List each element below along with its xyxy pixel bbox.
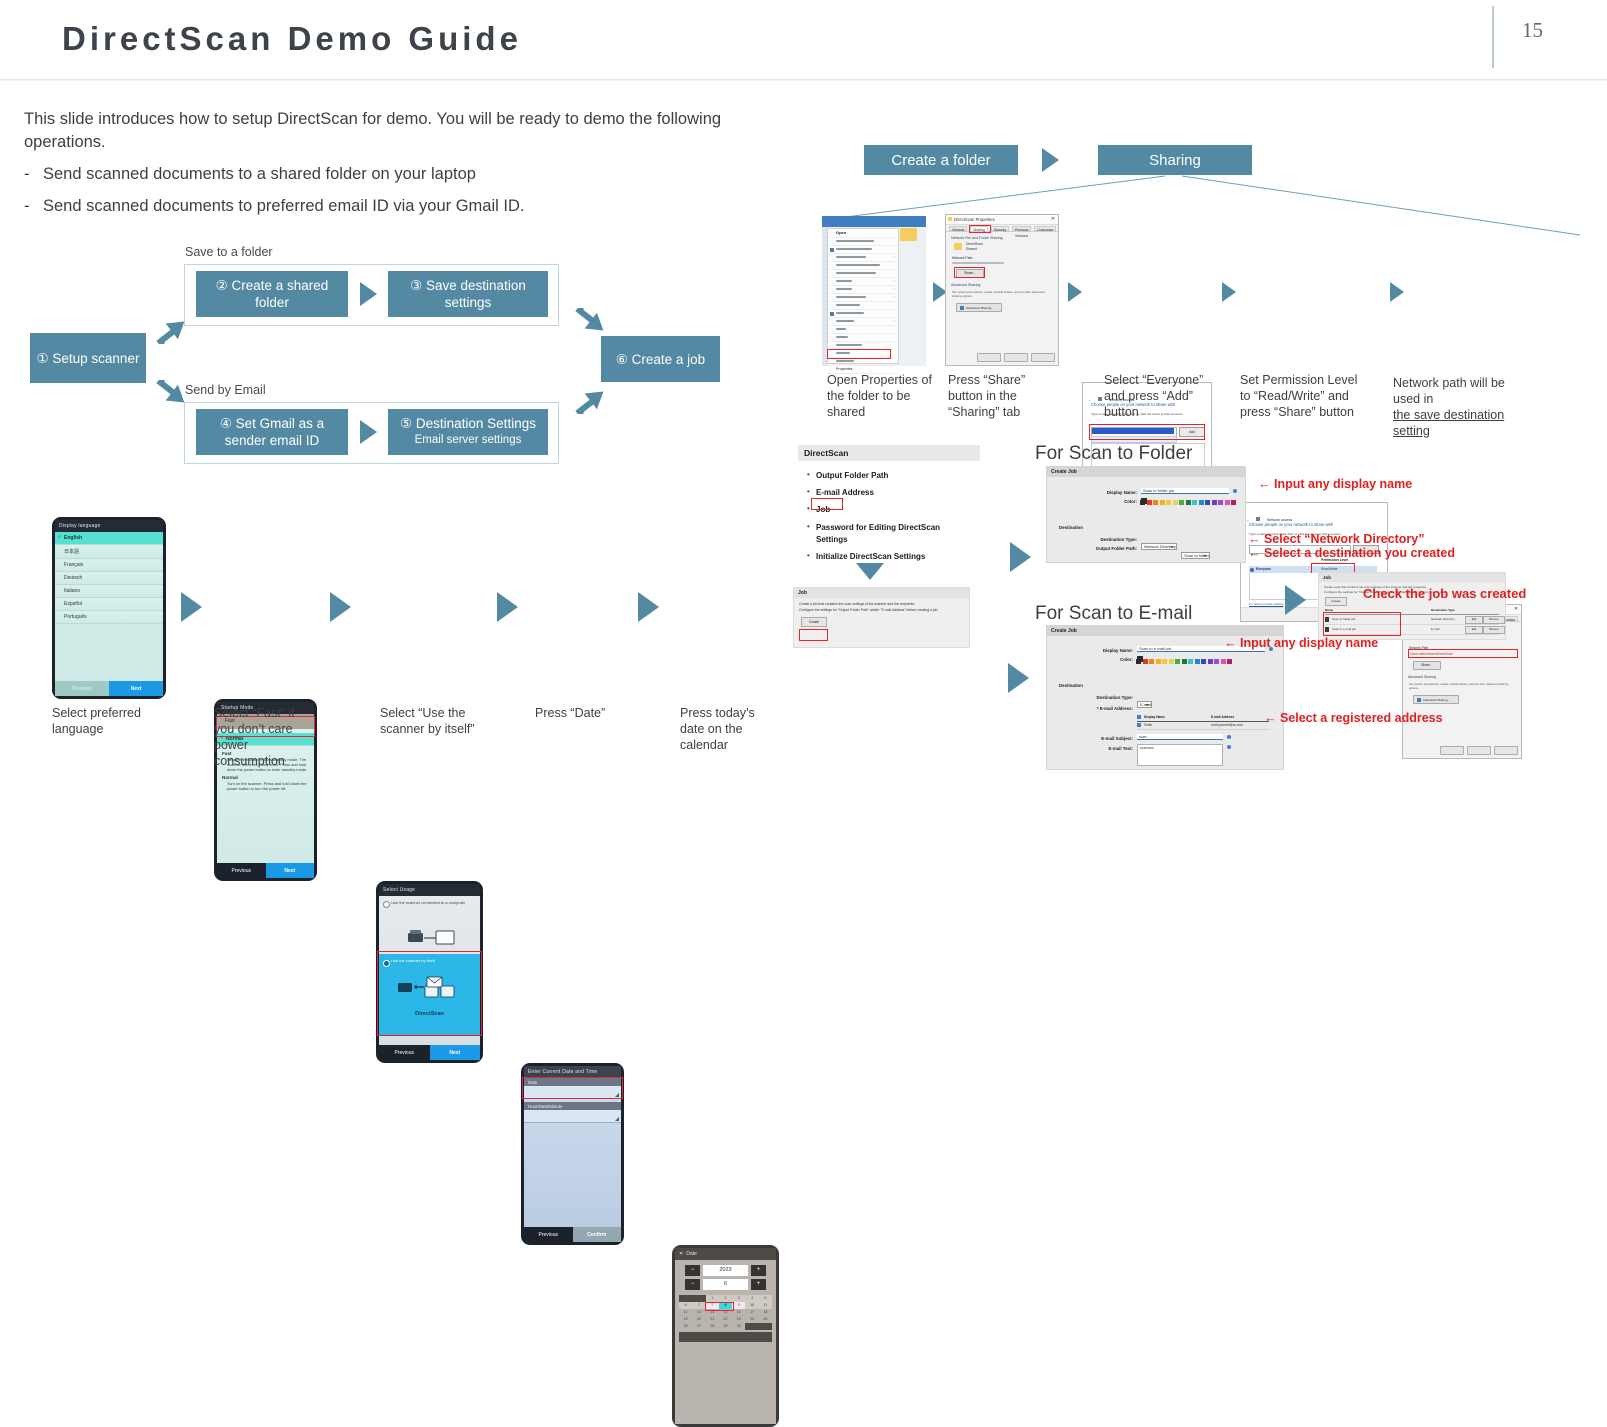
calendar-bottom-bar [679,1332,772,1342]
directscan-down-arrow [856,563,884,580]
help-icon[interactable] [1227,735,1231,739]
context-menu-item[interactable]: Open [828,229,898,238]
phone-5-year-row: − 2023 + [675,1260,776,1276]
context-menu-item[interactable] [828,326,898,334]
phone-2-caption: Select “Fast” if you don’t care power co… [214,705,310,769]
advanced-sharing-label: Advanced Sharing... [1423,698,1450,702]
year-decrement-button[interactable]: − [685,1265,700,1276]
page-title: DirectScan Demo Guide [62,20,522,58]
job-result-create-label: Create [1326,598,1346,605]
scan-to-email-title: For Scan to E-mail [1035,603,1192,625]
context-menu-item[interactable]: › [828,254,898,262]
calendar-cell[interactable]: 22 [719,1316,732,1323]
calendar-cell[interactable]: 10 [745,1302,758,1309]
highlight-job-item [811,498,843,510]
phone-4-footer: Previous Confirm [524,1227,621,1242]
input-email-text[interactable]: scanned [1137,744,1223,766]
dialog-heading: Choose people on your network to share w… [1249,522,1333,527]
row-edit-button[interactable]: Edit [1465,626,1483,634]
palette-swatch[interactable] [1205,500,1210,505]
calendar-cell[interactable]: 30 [732,1323,745,1330]
phone-4-field-time-label: Hour/Date/Minute [524,1102,621,1110]
calendar-cell [692,1295,705,1302]
phone-5-calendar-grid: 1 2 3 4 5 6 7 7 8 9 10 11 12 13 14 15 [679,1295,772,1342]
job-card-line1: Create a job that contains the scan sett… [794,598,969,606]
calendar-cell [745,1323,758,1330]
phone-3-previous-button[interactable]: Previous [379,1045,430,1060]
label-color: Color: [1105,499,1137,504]
intro-bullet-1: - Send scanned documents to a shared fol… [24,163,744,186]
palette-swatch[interactable] [1218,500,1223,505]
row-display-name: Smith [1144,723,1152,727]
row-job-type: Network Directory [1431,617,1455,621]
calendar-cell[interactable]: 12 [679,1309,692,1316]
highlight-properties [827,349,891,359]
palette-swatch[interactable] [1169,659,1174,664]
arrow-to-scan-to-email [1008,663,1029,693]
flow-step-5-main: ⑤ Destination Settings [400,415,536,432]
row-remove-button[interactable]: Remove [1483,616,1505,624]
arrow-to-scan-to-folder [1010,542,1031,572]
phone-3-footer: Previous Next [379,1045,480,1060]
label-display-name: Display Name: [1085,490,1137,495]
calendar-cell[interactable]: 18 [759,1309,772,1316]
palette-swatch[interactable] [1153,500,1158,505]
sharing-step-5-caption: Network path will be used in the save de… [1393,375,1533,439]
folder-icon [948,217,952,221]
palette-swatch[interactable] [1182,659,1187,664]
email-table-row[interactable]: Smith smith.jdsmith@xx.com [1137,722,1269,730]
highlight-sharing-tab [969,225,991,233]
palette-swatch[interactable] [1214,659,1219,664]
trouble-sharing-link[interactable]: I'm having trouble sharing [1249,602,1283,606]
phone-5-year-value: 2023 [703,1265,748,1276]
window-footer-buttons[interactable] [1440,746,1518,755]
calendar-cell[interactable]: 3 [732,1295,745,1302]
label-display-name: Display Name: [1081,648,1133,653]
phone-arrow-3-4 [497,592,518,622]
tab-previous-versions[interactable]: Previous Versions [1012,226,1031,231]
phone-3-option-a-label: Use the scanner connected to a computer [391,900,476,905]
page-number: 15 [1522,18,1543,43]
sharing-step-4-caption: Set Permission Level to “Read/Write” and… [1240,372,1358,420]
ok-button[interactable] [977,353,1001,362]
phone-arrow-1-2 [181,592,202,622]
palette-swatch[interactable] [1195,659,1200,664]
close-icon[interactable]: ✕ [1514,606,1518,612]
phone-1-previous-button[interactable]: Previous [55,681,109,696]
palette-swatch[interactable] [1179,500,1184,505]
sharing-flow-section: Create a folder Sharing Open › › › › › [790,140,1607,410]
explorer-header-band [822,216,926,227]
share-icon [1256,517,1260,521]
label-email-text: E-mail Text: [1077,746,1133,751]
context-menu-item[interactable]: › [828,318,898,326]
scan-to-folder-title: For Scan to Folder [1035,443,1192,465]
window-footer-buttons[interactable] [977,353,1055,362]
help-icon[interactable] [1233,489,1237,493]
flow-step-3[interactable]: ③ Save destination settings [388,271,548,317]
share-button[interactable]: Share... [1413,661,1441,670]
context-menu-item[interactable] [828,262,898,270]
shield-icon [830,248,834,252]
calendar-cell[interactable]: 16 [732,1309,745,1316]
context-menu-item[interactable]: › [828,286,898,294]
palette-swatch[interactable] [1173,500,1178,505]
row-email-address: smith.jdsmith@xx.com [1211,723,1243,727]
phone-3-highlight-option-b [377,951,482,1036]
advanced-sharing-button[interactable]: Advanced Sharing... [956,303,1002,312]
phone-arrow-2-3 [330,592,351,622]
phone-5-highlight-today [705,1302,734,1311]
input-email-subject[interactable]: scan [1137,734,1223,740]
sharing-step-1-caption: Open Properties of the folder to be shar… [827,372,943,420]
intro-paragraph: This slide introduces how to setup Direc… [24,108,744,154]
email-table-header: Display Name E-mail Address [1137,715,1269,722]
phone-5-caption: Press today’s date on the calendar [680,705,776,753]
calendar-cell[interactable]: 11 [759,1302,772,1309]
palette-swatch[interactable] [1136,659,1141,664]
row-job-type: E-mail [1431,627,1440,631]
bullet-text: Send scanned documents to preferred emai… [43,195,524,218]
shield-icon [1417,698,1421,702]
calendar-cell[interactable]: 23 [732,1316,745,1323]
context-menu-item[interactable] [828,302,898,310]
phone-2-help-normal-title: Normal [217,772,314,781]
lang-option-english[interactable]: English [55,532,163,545]
context-menu-item[interactable] [828,246,898,254]
setup-flow-diagram: Save to a folder ② Create a shared folde… [0,240,760,460]
arrow-to-job-result [1285,585,1306,615]
job-create-button[interactable]: Create [801,617,827,627]
phone-4-highlight-date [522,1077,623,1099]
tab-general[interactable]: General [949,226,967,231]
calendar-cell[interactable]: 17 [745,1309,758,1316]
lang-option-japanese[interactable]: 日本語 [55,545,163,559]
phone-5-title-bar: ✕Date [675,1248,776,1260]
select-destination-type[interactable]: E-mail [1137,701,1152,708]
phone-2-help-normal-body: Turn on the scanner. Press and hold down… [217,781,314,791]
palette-swatch[interactable] [1175,659,1180,664]
flow-step-5[interactable]: ⑤ Destination Settings Email server sett… [388,409,548,455]
calendar-cell[interactable]: 20 [692,1316,705,1323]
context-menu-item[interactable] [828,310,898,318]
select-output-folder-path[interactable]: Scan to folder [1181,552,1210,559]
flow-arrow-2-to-3 [360,282,377,306]
phone-5-screen: ✕Date − 2023 + − 6 + 1 2 3 4 [675,1248,776,1424]
sharing-step-1: Open › › › › › Properties [822,216,926,366]
intro-block: This slide introduces how to setup Direc… [24,108,744,218]
palette-swatch[interactable] [1162,659,1167,664]
highlight-create-button [799,629,828,641]
directscan-item-initialize[interactable]: Initialize DirectScan Settings [802,551,976,563]
lang-option-german[interactable]: Deutsch [55,572,163,585]
bullet-dash: - [24,195,34,218]
advanced-sharing-text: Set custom permissions, create multiple … [1409,682,1515,690]
email-table: Display Name E-mail Address Smith smith.… [1137,715,1269,730]
palette-swatch[interactable] [1143,659,1148,664]
flow-step-4[interactable]: ④ Set Gmail as a sender email ID [196,409,348,455]
calendar-cell[interactable]: 25 [759,1316,772,1323]
job-result-title: Job [1319,573,1505,582]
context-menu-item[interactable] [828,238,898,246]
palette-swatch[interactable] [1192,500,1197,505]
calendar-cell[interactable]: 28 [706,1323,719,1330]
advanced-sharing-label: Advanced Sharing... [966,306,994,310]
phone-2-previous-button[interactable]: Previous [217,863,266,878]
tab-security[interactable]: Security [991,226,1009,231]
phone-3-select-usage: Select Usage Use the scanner connected t… [376,881,483,1063]
shared-folder-name: DirectScan [966,242,983,246]
annotation-check-job-created: Check the job was created [1363,585,1526,602]
context-menu-item[interactable] [828,358,898,366]
sharing-flow-arrow [1042,148,1059,172]
palette-swatch[interactable] [1201,659,1206,664]
phone-5-month-value: 6 [703,1279,748,1290]
phone-1-title: Display language [55,520,163,532]
job-result-create-button[interactable]: Create [1325,597,1347,606]
calendar-cell[interactable]: 19 [679,1316,692,1323]
section-network-sharing-label: Network File and Folder Sharing [951,236,1003,240]
sharing-step-2-caption: Press “Share” button in the “Sharing” ta… [948,372,1060,420]
network-path-value [952,262,1004,264]
row-remove-button[interactable]: Remove [1483,626,1505,634]
calendar-cell[interactable]: 24 [745,1316,758,1323]
month-increment-button[interactable]: + [751,1279,766,1290]
sharing-arrow-2-3 [1068,282,1082,302]
label-email-subject: E-mail Subject: [1077,736,1133,741]
calendar-cell[interactable]: 4 [745,1295,758,1302]
sharing-step-5-caption-line1: Network path will be used in [1393,375,1533,407]
bent-arrow-down-right [571,380,609,414]
phone-4-field-time-input[interactable] [524,1110,621,1123]
calendar-cell[interactable]: 2 [719,1295,732,1302]
calendar-cell[interactable]: 5 [759,1295,772,1302]
annotation-folder-display-name: ← Input any display name [1258,476,1412,493]
calendar-cell[interactable]: 6 [679,1302,692,1309]
context-menu-item[interactable]: › [828,294,898,302]
col-email-address: E-mail Address [1211,715,1234,719]
label-email-address: * E-mail Address: [1069,706,1133,711]
flow-step-6[interactable]: ⑥ Create a job [601,336,720,382]
highlight-everyone-add [1089,424,1205,440]
lang-option-spanish[interactable]: Español [55,598,163,611]
flow-arrow-4-to-5 [360,420,377,444]
flow-group-label-folder: Save to a folder [185,245,273,259]
phone-walkthrough-strip: Display language English 日本語 Français De… [0,500,800,790]
shared-folder-state: Shared [966,247,977,251]
phone-3-next-button[interactable]: Next [430,1045,481,1060]
job-result-col-type: Destination Type [1431,608,1455,612]
phone-5-month-row: − 6 + [675,1276,776,1290]
phone-3-option-a[interactable]: Use the scanner connected to a computer [379,896,480,909]
calendar-cell [679,1295,692,1302]
palette-swatch[interactable] [1188,659,1193,664]
lang-option-portuguese[interactable]: Português [55,611,163,624]
sharing-node-create-folder[interactable]: Create a folder [864,145,1018,175]
palette-swatch[interactable] [1231,500,1236,505]
highlight-job-rows [1323,612,1401,636]
cancel-button[interactable] [1004,353,1028,362]
bent-arrow-up-left [152,310,190,344]
palette-swatch[interactable] [1140,500,1145,505]
scan-to-email-palette[interactable] [1136,659,1232,664]
select-destination-type[interactable]: Network Directory [1141,543,1177,550]
ok-button[interactable] [1440,746,1464,755]
phone-5-title: Date [686,1251,697,1257]
palette-swatch[interactable] [1199,500,1204,505]
calendar-cell-highlight-9[interactable]: 9 [732,1302,745,1309]
palette-swatch[interactable] [1147,500,1152,505]
context-menu-item[interactable] [828,334,898,342]
phone-2-footer: Previous Next [217,863,314,878]
phone-4-caption: Press “Date” [535,705,635,721]
palette-swatch[interactable] [1166,500,1171,505]
phone-4-enter-date-time: Enter Current Date and Time Date Hour/Da… [521,1063,624,1245]
row-edit-button[interactable]: Edit [1465,616,1483,624]
calendar-cell [759,1323,772,1330]
palette-swatch[interactable] [1149,659,1154,664]
scan-to-folder-card-title: Create Job [1047,467,1245,477]
phone-4-previous-button[interactable]: Previous [524,1227,573,1242]
apply-button[interactable] [1031,353,1055,362]
section-advanced-sharing-label: Advanced Sharing [1408,675,1436,679]
highlight-network-path [1408,649,1518,658]
highlight-share-button [954,267,985,278]
shield-icon [960,306,964,310]
year-increment-button[interactable]: + [751,1265,766,1276]
context-menu-item-open: Open [836,230,846,235]
resize-handle-icon [615,1117,619,1121]
palette-swatch[interactable] [1156,659,1161,664]
row-checkbox[interactable] [1137,723,1141,727]
palette-swatch[interactable] [1225,500,1230,505]
context-menu[interactable]: Open › › › › › Properties [827,228,899,364]
palette-swatch[interactable] [1212,500,1217,505]
job-card-line2: Configure the settings for "Output Folde… [794,606,969,612]
window-titlebar: DirectScan Properties ✕ [946,215,1058,225]
tab-customize[interactable]: Customize [1034,226,1056,231]
input-display-name[interactable]: Scan to folder job [1141,488,1229,494]
phone-1-caption: Select preferred language [52,705,170,737]
label-destination-type: Destination Type: [1077,537,1137,542]
sharing-step-3-caption: Select “Everyone” and press “Add” button [1104,372,1216,420]
annotation-select-registered-address: ← Select a registered address [1264,710,1443,727]
phone-2-next-button[interactable]: Next [266,863,315,878]
scan-to-folder-palette[interactable] [1140,500,1236,505]
advanced-sharing-text: Set custom permissions, create multiple … [952,290,1052,298]
close-icon[interactable]: ✕ [679,1251,683,1257]
help-icon[interactable] [1227,745,1231,749]
calendar-cell[interactable]: 7 [692,1302,705,1309]
context-menu-item[interactable]: › [828,278,898,286]
apply-button[interactable] [1494,746,1518,755]
scan-to-folder-card: Create Job Display Name: Scan to folder … [1046,466,1246,563]
calendar-cell[interactable]: 29 [719,1323,732,1330]
flow-step-1[interactable]: ① Setup scanner [30,333,146,383]
job-card: Job Create a job that contains the scan … [793,587,970,648]
palette-swatch[interactable] [1160,500,1165,505]
flow-step-2[interactable]: ② Create a shared folder [196,271,348,317]
row-name: Everyone [1256,567,1271,571]
folder-icon [900,228,917,241]
context-menu-item[interactable] [828,270,898,278]
phone-3-caption: Select “Use the scanner by itself” [380,705,488,737]
palette-swatch[interactable] [1186,500,1191,505]
palette-swatch[interactable] [1208,659,1213,664]
calendar-cell[interactable]: 13 [692,1309,705,1316]
folder-icon [954,243,962,250]
sharing-node-sharing[interactable]: Sharing [1098,145,1252,175]
share-icon [1098,397,1102,401]
cancel-button[interactable] [1467,746,1491,755]
person-icon [1250,568,1254,572]
bent-arrow-down-left [152,380,190,414]
label-color: Color: [1101,657,1133,662]
col-display-name: Display Name [1144,715,1165,719]
share-button-label: Share... [1414,662,1440,669]
label-destination-section: Destination [1059,525,1111,530]
job-result-card: Job Create a job that contains the scan … [1318,572,1506,640]
flow-step-5-sub: Email server settings [415,432,522,449]
phone-arrow-4-5 [638,592,659,622]
intro-bullet-2: - Send scanned documents to preferred em… [24,195,744,218]
sharing-step-5-caption-line2[interactable]: the save destination setting [1393,407,1533,439]
bullet-dash: - [24,163,34,186]
palette-swatch[interactable] [1227,659,1232,664]
label-destination-section: Destination [1059,683,1111,688]
phone-1-display-language: Display language English 日本語 Français De… [52,517,166,699]
context-menu-properties-label: Properties [836,367,852,371]
powerrename-icon [830,312,834,316]
calendar-cell[interactable]: 27 [692,1323,705,1330]
bent-arrow-up-right [571,308,609,342]
lang-option-french[interactable]: Français [55,559,163,572]
close-icon[interactable]: ✕ [1051,216,1055,222]
page-number-divider [1492,6,1494,68]
phone-1-next-button[interactable]: Next [109,681,163,696]
window-tabs[interactable]: General Sharing Security Previous Versio… [946,225,1058,232]
phone-4-confirm-button[interactable]: Confirm [573,1227,622,1242]
calendar-cell[interactable]: 26 [679,1323,692,1330]
palette-swatch[interactable] [1221,659,1226,664]
lang-option-italian[interactable]: Italiano [55,585,163,598]
bullet-text: Send scanned documents to a shared folde… [43,163,476,186]
header-divider [0,79,1607,81]
job-card-title: Job [794,588,969,598]
month-decrement-button[interactable]: − [685,1279,700,1290]
directscan-item-password[interactable]: Password for Editing DirectScan Settings [802,522,941,546]
phone-1-footer: Previous Next [55,681,163,696]
calendar-cell[interactable]: 21 [706,1316,719,1323]
flow-group-label-email: Send by Email [185,383,266,397]
phone-1-screen: Display language English 日本語 Français De… [55,520,163,696]
radio-icon [383,901,390,908]
select-all-checkbox[interactable] [1137,715,1141,719]
annotation-email-display-name: ← Input any display name [1224,635,1378,652]
label-output-folder-path: Output Folder Path: [1077,546,1137,551]
sharing-arrow-4-5 [1390,282,1404,302]
directscan-panel-title: DirectScan [798,445,980,461]
window-title: DirectScan Properties [954,217,995,222]
phone-3-title: Select Usage [379,884,480,896]
annotation-select-destination: ← Select a destination you created [1248,545,1455,562]
advanced-sharing-button[interactable]: Advanced Sharing... [1413,695,1459,704]
directscan-item-output-folder[interactable]: Output Folder Path [802,470,976,482]
calendar-cell[interactable]: 1 [706,1295,719,1302]
phone-5-calendar: ✕Date − 2023 + − 6 + 1 2 3 4 [672,1245,779,1427]
label-destination-type: Destination Type: [1073,695,1133,700]
